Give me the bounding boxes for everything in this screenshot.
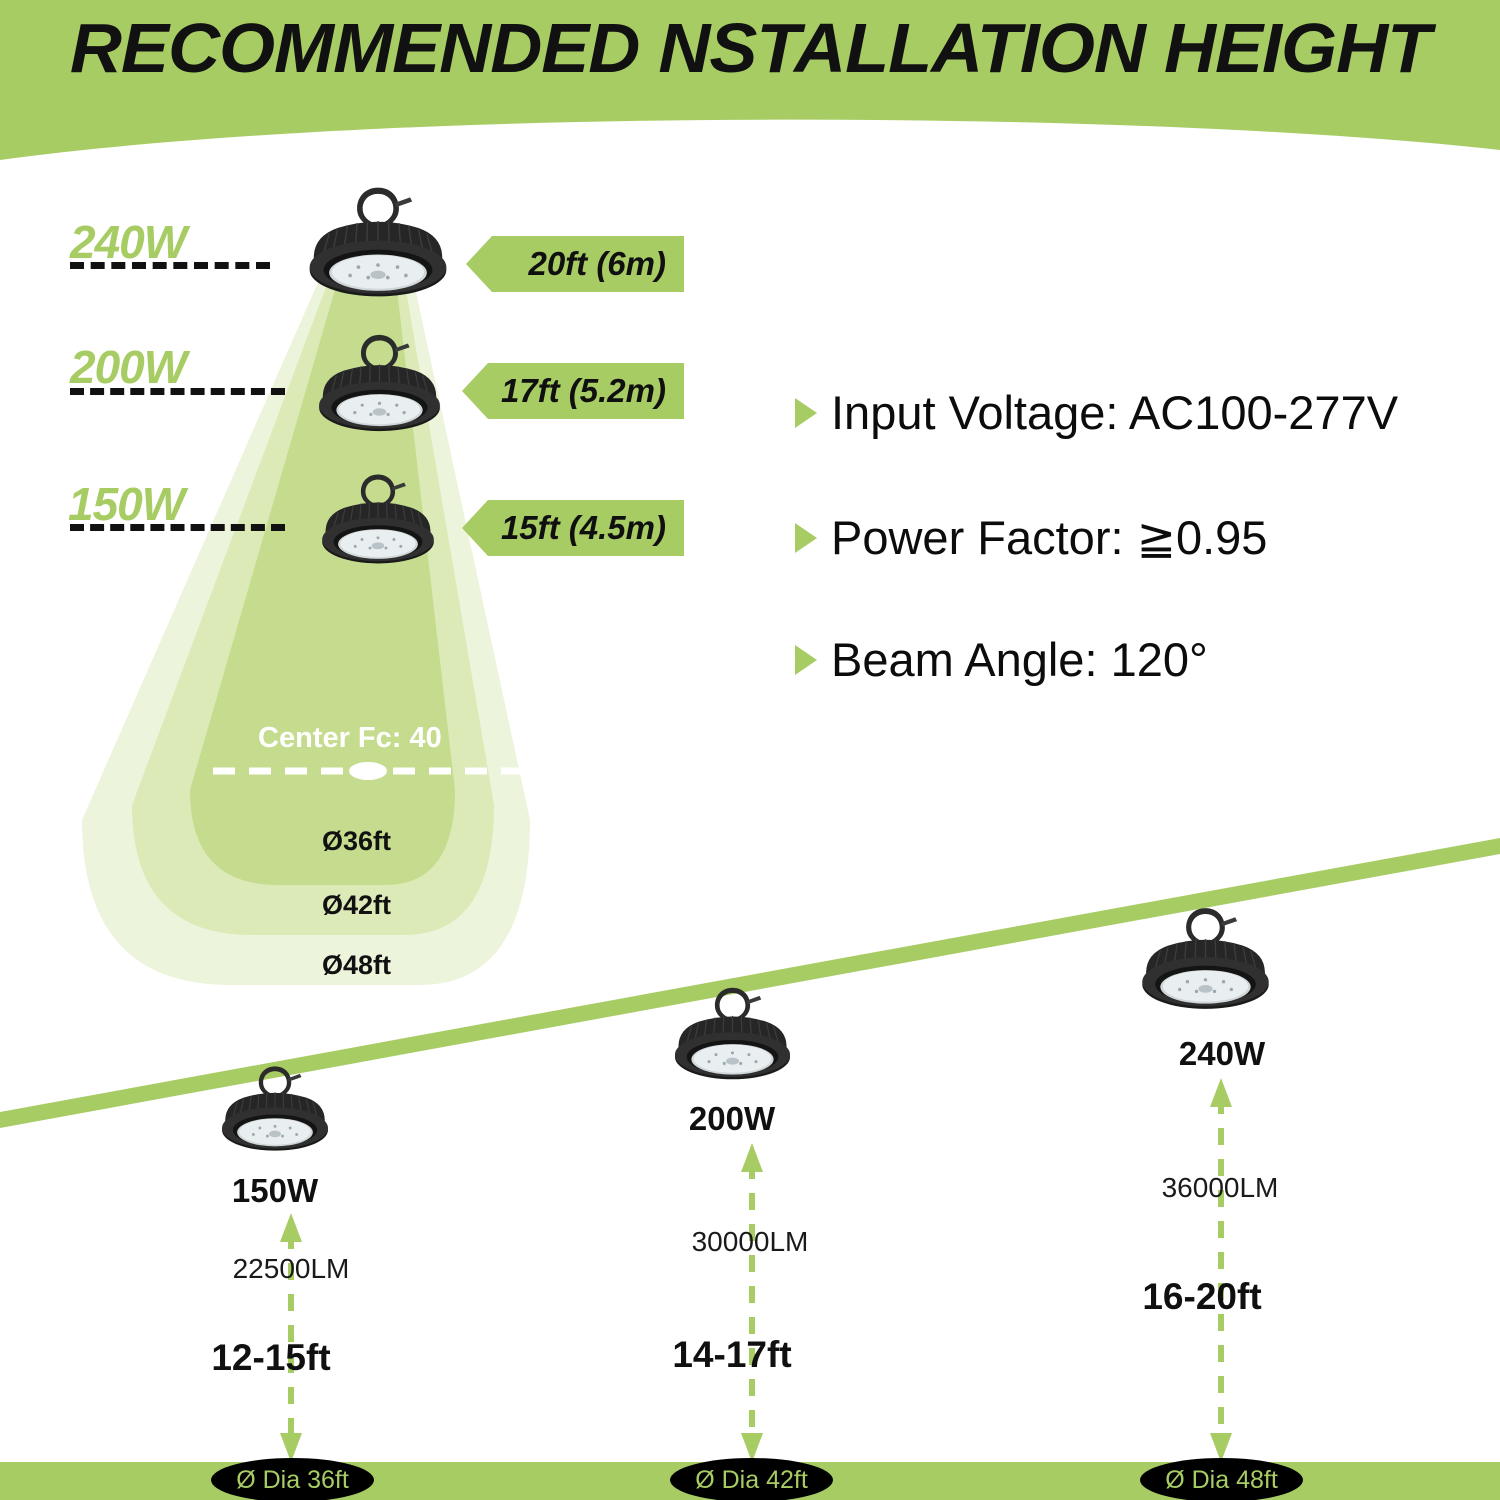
watt-label-150: 150W xyxy=(68,477,184,531)
floor-diameter-48: Ø Dia 48ft xyxy=(1140,1458,1303,1500)
leader-line-150 xyxy=(70,524,285,531)
bottom-lumens-150: 22500LM xyxy=(191,1253,391,1285)
center-fc-lens-icon xyxy=(349,762,387,780)
height-callout-200: 17ft (5.2m) xyxy=(462,363,684,419)
watt-label-240: 240W xyxy=(70,215,186,269)
leader-line-240 xyxy=(70,262,270,269)
height-callout-240: 20ft (6m) xyxy=(466,236,684,292)
lamp-240w-top xyxy=(262,182,494,302)
floor-diameter-36: Ø Dia 36ft xyxy=(211,1458,374,1500)
page-title: RECOMMENDED NSTALLATION HEIGHT xyxy=(0,8,1500,88)
bottom-height-200: 14-17ft xyxy=(632,1334,832,1376)
triangle-bullet-icon xyxy=(795,398,817,428)
spec-label-input-voltage: Input Voltage: AC100-277V xyxy=(831,385,1398,440)
spec-row-beam-angle: Beam Angle: 120° xyxy=(795,632,1208,687)
lamp-240w-bottom xyxy=(1098,903,1313,1014)
leader-line-200 xyxy=(70,388,285,395)
spec-row-input-voltage: Input Voltage: AC100-277V xyxy=(795,385,1398,440)
triangle-bullet-icon xyxy=(795,523,817,553)
beam-diameter-36: Ø36ft xyxy=(322,826,391,857)
triangle-bullet-icon xyxy=(795,645,817,675)
center-fc-label: Center Fc: 40 xyxy=(258,722,442,755)
watt-label-200: 200W xyxy=(70,340,186,394)
beam-diameter-42: Ø42ft xyxy=(322,890,391,921)
spec-label-beam-angle: Beam Angle: 120° xyxy=(831,632,1208,687)
bottom-height-240: 16-20ft xyxy=(1102,1276,1302,1318)
beam-diameter-48: Ø48ft xyxy=(322,950,391,981)
lamp-150w-bottom xyxy=(185,1062,365,1155)
lamp-200w-bottom xyxy=(635,983,830,1084)
bottom-watt-240: 240W xyxy=(1122,1035,1322,1073)
lamp-150w-top xyxy=(283,470,473,568)
bottom-lumens-200: 30000LM xyxy=(650,1226,850,1258)
bottom-lumens-240: 36000LM xyxy=(1120,1172,1320,1204)
bottom-watt-150: 150W xyxy=(175,1172,375,1210)
floor-diameter-42: Ø Dia 42ft xyxy=(670,1458,833,1500)
spec-label-power-factor: Power Factor: ≧0.95 xyxy=(831,510,1267,566)
spec-row-power-factor: Power Factor: ≧0.95 xyxy=(795,510,1267,566)
lamp-200w-top xyxy=(277,330,482,436)
height-callout-150: 15ft (4.5m) xyxy=(462,500,684,556)
infographic-root: RECOMMENDED NSTALLATION HEIGHT Center Fc… xyxy=(0,0,1500,1500)
bottom-watt-200: 200W xyxy=(632,1100,832,1138)
bottom-height-150: 12-15ft xyxy=(171,1337,371,1379)
